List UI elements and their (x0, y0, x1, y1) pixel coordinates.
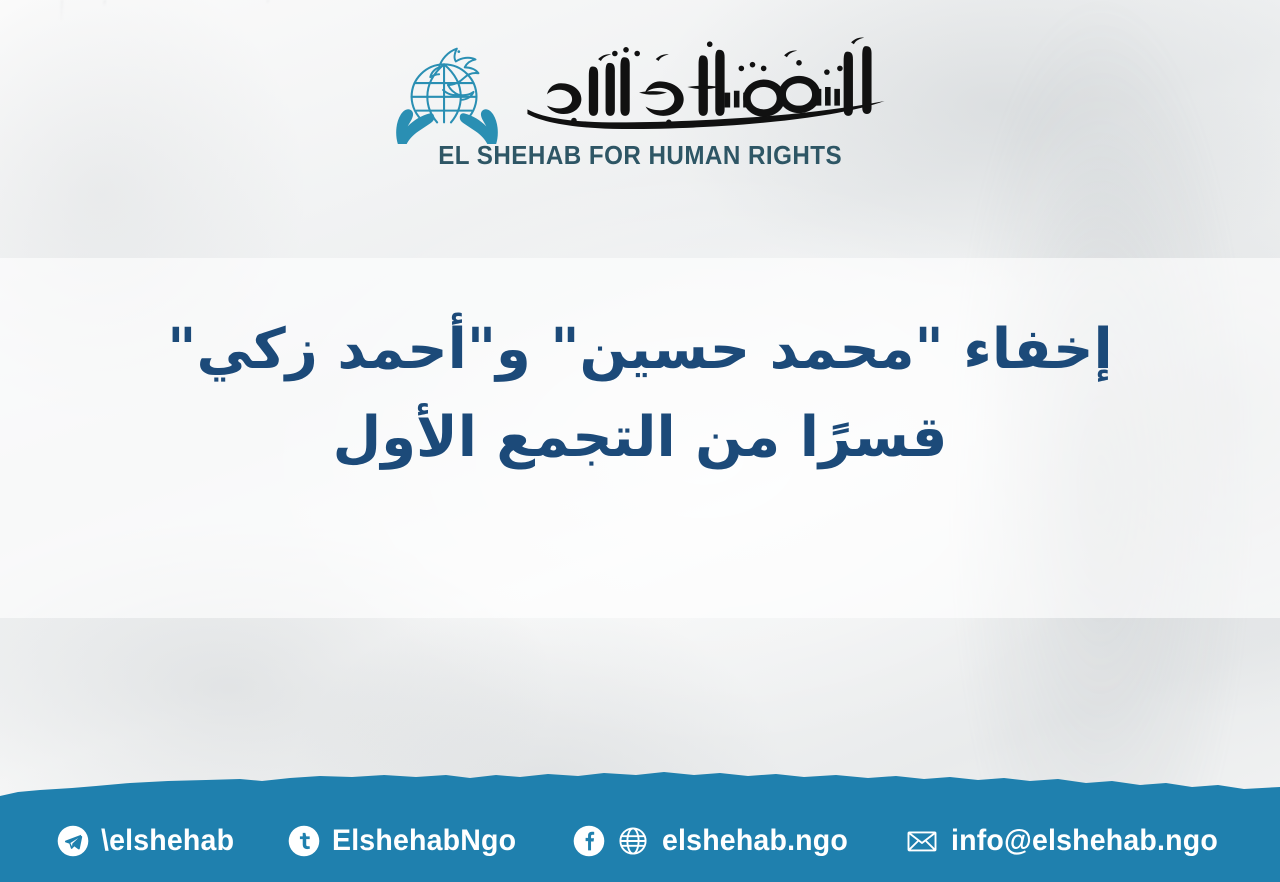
website-icon-pair (572, 823, 651, 859)
twitter-icon[interactable] (287, 824, 321, 858)
arabic-calligraphy-wordmark (520, 31, 892, 143)
twitter-handle[interactable]: ElshehabNgo (332, 824, 516, 858)
headline: إخفاء "محمد حسين" و"أحمد زكي" قسرًا من ا… (0, 306, 1280, 483)
footer-item-email[interactable]: info@elshehab.ngo (904, 823, 1232, 859)
organization-logo: EL SHEHAB FOR HUMAN RIGHTS (0, 28, 1280, 171)
email-icon[interactable] (904, 823, 940, 859)
telegram-handle[interactable]: \elshehab (101, 824, 234, 858)
headline-line-1: إخفاء "محمد حسين" و"أحمد زكي" (90, 306, 1190, 394)
dove-globe-hands-icon (388, 28, 506, 146)
logo-row (388, 28, 892, 146)
footer-item-twitter[interactable]: ElshehabNgo (287, 824, 526, 858)
globe-icon[interactable] (615, 823, 651, 859)
social-media-card: EL SHEHAB FOR HUMAN RIGHTS إخفاء "محمد ح… (0, 0, 1280, 882)
organization-name-english: EL SHEHAB FOR HUMAN RIGHTS (438, 140, 842, 171)
telegram-icon[interactable] (56, 824, 90, 858)
facebook-icon[interactable] (572, 824, 606, 858)
email-address[interactable]: info@elshehab.ngo (951, 824, 1218, 858)
footer-item-website[interactable]: elshehab.ngo (572, 823, 858, 859)
headline-line-2: قسرًا من التجمع الأول (90, 394, 1190, 482)
website-url[interactable]: elshehab.ngo (662, 824, 848, 858)
footer-item-telegram[interactable]: \elshehab (56, 824, 241, 858)
footer-bar: \elshehab ElshehabNgo (0, 766, 1280, 882)
footer-contact-list: \elshehab ElshehabNgo (0, 800, 1280, 882)
